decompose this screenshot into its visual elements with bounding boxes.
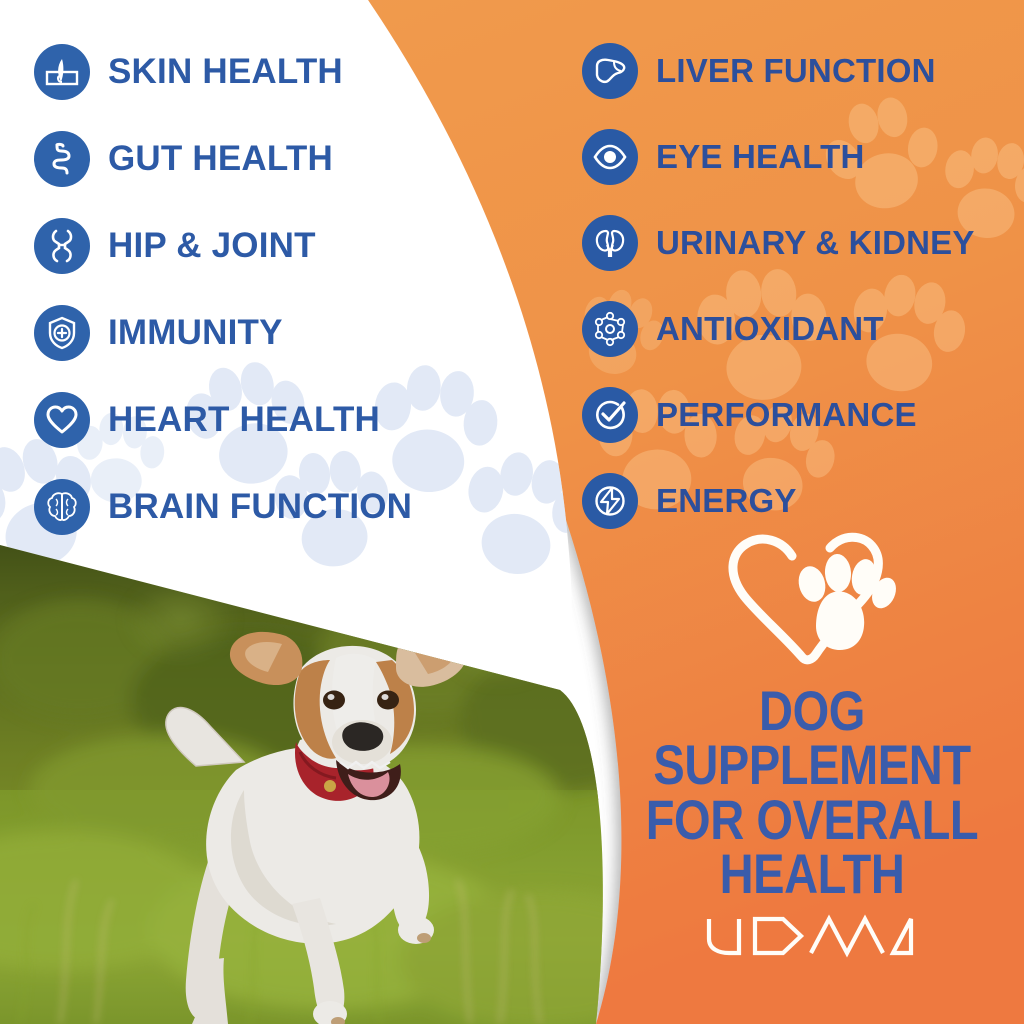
benefit-label: GUT HEALTH (108, 141, 333, 176)
benefit-row-skin-health[interactable]: SKIN HEALTH (34, 34, 504, 109)
headline-line-1: DOG (634, 684, 990, 738)
lightning-bolt-icon (582, 473, 638, 529)
benefit-row-performance[interactable]: PERFORMANCE (582, 378, 1024, 451)
benefit-label: HEART HEALTH (108, 402, 380, 437)
benefit-label: SKIN HEALTH (108, 54, 343, 89)
benefit-row-antioxidant[interactable]: ANTIOXIDANT (582, 292, 1024, 365)
benefit-row-eye-health[interactable]: EYE HEALTH (582, 120, 1024, 193)
heart-paw-icon (712, 530, 912, 680)
benefit-row-immunity[interactable]: IMMUNITY (34, 295, 504, 370)
jdma-wordmark: JDMA (697, 907, 927, 963)
benefit-row-gut-health[interactable]: GUT HEALTH (34, 121, 504, 196)
intestine-icon (34, 131, 90, 187)
joint-bone-icon (34, 218, 90, 274)
benefit-label: EYE HEALTH (656, 140, 865, 173)
poster-canvas: SKIN HEALTH GUT HEALTH HIP & JOINT (0, 0, 1024, 1024)
benefit-label: BRAIN FUNCTION (108, 489, 412, 524)
benefit-row-hip-joint[interactable]: HIP & JOINT (34, 208, 504, 283)
check-circle-icon (582, 387, 638, 443)
benefit-row-urinary-kidney[interactable]: URINARY & KIDNEY (582, 206, 1024, 279)
left-benefits-column: SKIN HEALTH GUT HEALTH HIP & JOINT (34, 34, 504, 556)
benefit-label: ANTIOXIDANT (656, 312, 884, 345)
skin-follicle-icon (34, 44, 90, 100)
headline-line-4: HEALTH (634, 847, 990, 901)
headline-line-2: SUPPLEMENT (634, 738, 990, 792)
headline-line-3: FOR OVERALL (634, 793, 990, 847)
benefit-label: HIP & JOINT (108, 228, 316, 263)
benefit-row-energy[interactable]: ENERGY (582, 464, 1024, 537)
right-benefits-column: LIVER FUNCTION EYE HEALTH URINARY & KIDN… (582, 34, 1024, 550)
kidney-icon (582, 215, 638, 271)
benefit-label: IMMUNITY (108, 315, 283, 350)
brand-block: DOG SUPPLEMENT FOR OVERALL HEALTH JDMA (600, 530, 1024, 968)
benefit-row-brain-function[interactable]: BRAIN FUNCTION (34, 469, 504, 544)
molecule-icon (582, 301, 638, 357)
heart-icon (34, 392, 90, 448)
benefit-label: ENERGY (656, 484, 797, 517)
benefit-row-heart-health[interactable]: HEART HEALTH (34, 382, 504, 457)
liver-icon (582, 43, 638, 99)
benefit-label: LIVER FUNCTION (656, 54, 936, 87)
brain-icon (34, 479, 90, 535)
benefit-label: URINARY & KIDNEY (656, 226, 975, 259)
eye-icon (582, 129, 638, 185)
headline: DOG SUPPLEMENT FOR OVERALL HEALTH (634, 684, 990, 901)
benefit-label: PERFORMANCE (656, 398, 917, 431)
shield-plus-icon (34, 305, 90, 361)
benefit-row-liver-function[interactable]: LIVER FUNCTION (582, 34, 1024, 107)
